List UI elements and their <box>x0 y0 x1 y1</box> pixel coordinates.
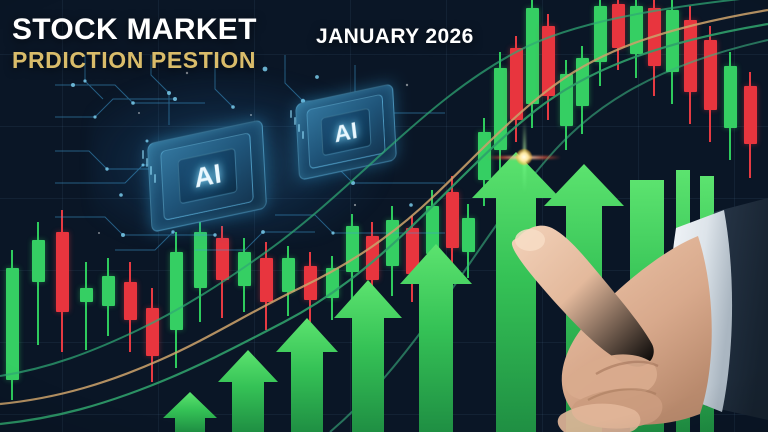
candle-body <box>744 86 757 144</box>
ai-chip-label: AI <box>333 116 360 148</box>
candlestick-up <box>724 52 737 160</box>
candle-body <box>170 252 183 330</box>
candlestick-up <box>102 258 115 336</box>
candlestick-down <box>304 252 317 322</box>
candlestick-up <box>630 0 643 78</box>
candlestick-up <box>526 0 539 128</box>
candle-body <box>494 68 507 150</box>
candlestick-up <box>6 250 19 400</box>
candle-body <box>724 66 737 128</box>
candle-body <box>684 20 697 92</box>
candle-body <box>80 288 93 302</box>
thumb <box>558 404 641 432</box>
chip-pins-left <box>142 148 156 208</box>
candlestick-down <box>124 262 137 352</box>
candlestick-up <box>560 60 573 150</box>
candlestick-down <box>744 72 757 178</box>
candlestick-down <box>704 26 717 142</box>
candle-body <box>124 282 137 320</box>
candlestick-up <box>594 0 607 86</box>
candlestick-up <box>494 52 507 178</box>
candle-body <box>304 266 317 300</box>
candlestick-down <box>612 0 625 70</box>
page-title: STOCK MARKET <box>12 14 257 46</box>
candle-wick <box>85 262 87 350</box>
candle-body <box>542 26 555 96</box>
candle-body <box>446 192 459 248</box>
candlestick-up <box>326 256 339 320</box>
candlestick-down <box>684 6 697 124</box>
ai-chip-label: AI <box>191 158 222 195</box>
page-subtitle: PRDICTION PESTION <box>12 48 257 74</box>
pointing-hand <box>500 170 768 432</box>
candlestick-up <box>478 118 491 206</box>
candlestick-up <box>462 204 475 278</box>
candle-body <box>576 58 589 106</box>
candlestick-down <box>542 14 555 120</box>
candlestick-down <box>510 36 523 142</box>
candlestick-down <box>648 0 661 96</box>
candle-body <box>260 258 273 302</box>
candlestick-down <box>146 288 159 382</box>
candle-body <box>666 10 679 72</box>
candle-body <box>594 6 607 62</box>
candle-body <box>648 8 661 66</box>
candle-body <box>462 218 475 252</box>
headline-block: STOCK MARKET PRDICTION PESTION <box>12 14 257 74</box>
candlestick-down <box>446 176 459 276</box>
candle-body <box>510 48 523 120</box>
date-label: JANUARY 2026 <box>316 25 474 49</box>
candle-body <box>612 4 625 48</box>
candle-body <box>6 268 19 380</box>
candlestick-up <box>666 0 679 104</box>
candle-body <box>630 6 643 54</box>
candle-body <box>704 40 717 110</box>
candlestick-up <box>32 222 45 345</box>
banner-stage: AI AI <box>0 0 768 432</box>
candle-body <box>478 132 491 180</box>
candle-body <box>282 258 295 292</box>
fingertip <box>515 229 545 251</box>
candlestick-up <box>80 262 93 350</box>
candle-body <box>560 74 573 126</box>
candle-body <box>526 8 539 104</box>
candlestick-up <box>576 46 589 134</box>
chip-pins-left <box>290 108 304 160</box>
candle-body <box>32 240 45 282</box>
candle-body <box>102 276 115 306</box>
ai-chip-left: AI <box>148 132 266 220</box>
candle-body <box>326 268 339 298</box>
candle-body <box>146 308 159 356</box>
ai-chip-right: AI <box>296 94 396 170</box>
